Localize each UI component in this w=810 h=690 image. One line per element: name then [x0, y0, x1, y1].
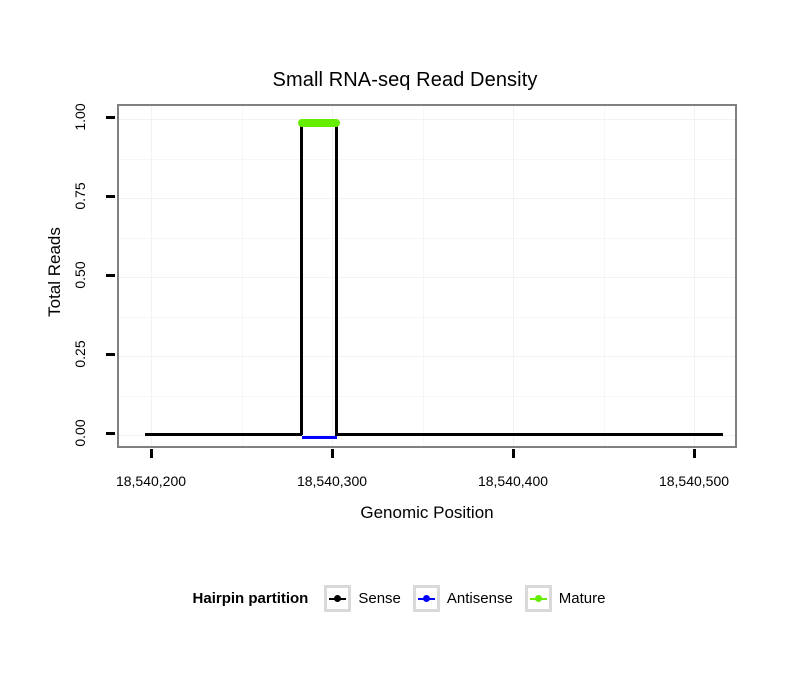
- gridline-y-minor-0.625: [119, 238, 735, 239]
- series-mature-segment: [298, 119, 340, 127]
- plot-area: [119, 106, 735, 446]
- series-sense-baseline-right: [335, 433, 723, 436]
- gridline-y-0.50: [119, 277, 735, 278]
- legend-key-antisense: [413, 585, 440, 612]
- gridline-x-minor-18540250: [242, 106, 243, 446]
- legend-label-antisense: Antisense: [447, 590, 513, 607]
- chart-container: Small RNA-seq Read Density: [0, 0, 810, 690]
- gridline-y-0.75: [119, 198, 735, 199]
- legend-label-sense: Sense: [358, 590, 401, 607]
- gridline-y-minor-0.125: [119, 396, 735, 397]
- chart-title: Small RNA-seq Read Density: [0, 68, 810, 92]
- legend-key-mature: [525, 585, 552, 612]
- gridline-y-minor-0.875: [119, 159, 735, 160]
- gridline-x-18540500: [694, 106, 695, 446]
- legend-key-dot-mature: [535, 595, 542, 602]
- gridline-x-18540300: [332, 106, 333, 446]
- series-sense-spike-right: [335, 122, 338, 435]
- ytick-label-0.00: 0.00: [73, 411, 87, 455]
- xtick-mark-18540400: [512, 449, 515, 458]
- xtick-mark-18540200: [150, 449, 153, 458]
- xtick-label-18540300: 18,540,300: [272, 473, 392, 489]
- gridline-y-0.25: [119, 356, 735, 357]
- ytick-label-1.00: 1.00: [73, 95, 87, 139]
- ytick-mark-0.00: [106, 432, 115, 435]
- ytick-mark-1.00: [106, 116, 115, 119]
- legend-item-mature[interactable]: Mature: [525, 585, 606, 612]
- ytick-mark-0.50: [106, 274, 115, 277]
- legend-title: Hairpin partition: [193, 590, 309, 607]
- series-sense-baseline-left: [145, 433, 302, 436]
- xtick-label-18540400: 18,540,400: [453, 473, 573, 489]
- series-antisense-segment: [302, 436, 337, 439]
- legend-item-antisense[interactable]: Antisense: [413, 585, 513, 612]
- ytick-mark-0.25: [106, 353, 115, 356]
- ytick-mark-0.75: [106, 195, 115, 198]
- xtick-label-18540200: 18,540,200: [91, 473, 211, 489]
- x-axis-title: Genomic Position: [117, 503, 737, 523]
- gridline-x-18540200: [151, 106, 152, 446]
- gridline-y-1.00: [119, 119, 735, 120]
- chart-legend: Hairpin partition Sense Antisense Mature: [0, 585, 810, 612]
- series-sense-spike-left: [300, 122, 303, 435]
- ytick-label-0.50: 0.50: [73, 253, 87, 297]
- legend-label-mature: Mature: [559, 590, 606, 607]
- gridline-x-minor-18540450: [604, 106, 605, 446]
- legend-key-dot-sense: [334, 595, 341, 602]
- gridline-x-18540400: [513, 106, 514, 446]
- y-axis-title: Total Reads: [45, 182, 65, 362]
- legend-key-dot-antisense: [423, 595, 430, 602]
- gridline-y-minor-0.375: [119, 317, 735, 318]
- xtick-label-18540500: 18,540,500: [634, 473, 754, 489]
- ytick-label-0.25: 0.25: [73, 332, 87, 376]
- plot-panel: [117, 104, 737, 448]
- xtick-mark-18540300: [331, 449, 334, 458]
- legend-item-sense[interactable]: Sense: [324, 585, 401, 612]
- xtick-mark-18540500: [693, 449, 696, 458]
- ytick-label-0.75: 0.75: [73, 174, 87, 218]
- legend-key-sense: [324, 585, 351, 612]
- gridline-x-minor-18540350: [423, 106, 424, 446]
